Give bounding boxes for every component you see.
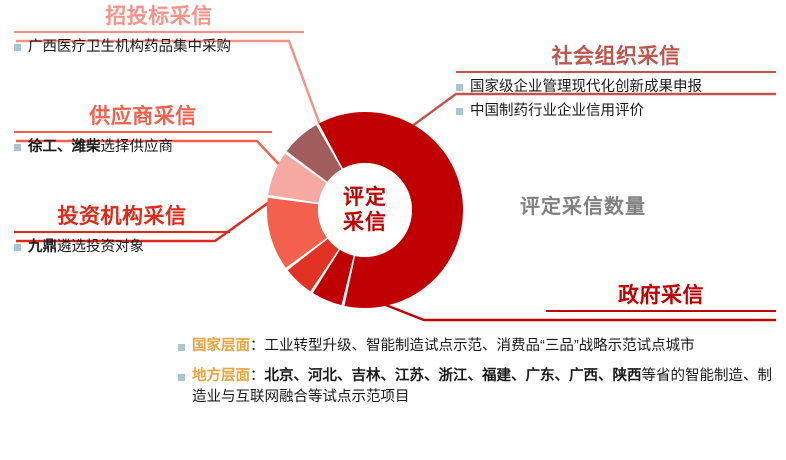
list-item-row: 徐工、潍柴选择供应商 [28,137,173,158]
callout-social: 社会组织采信 国家级企业管理现代化创新成果申报 中国制药行业企业信用评价 [456,44,776,125]
bullet-square-icon [456,108,463,115]
list-item: 徐工、潍柴选择供应商 [14,137,272,158]
note-local-tag: 地方层面 [192,368,250,384]
callout-bidding-rule [14,31,304,33]
list-item-label: 国家级企业管理现代化创新成果申报 [470,77,702,98]
callout-investor: 投资机构采信 九鼎遴选投资对象 [14,204,230,261]
callout-investor-list: 九鼎遴选投资对象 [14,237,230,258]
note-national-sep: ： [250,338,265,354]
list-item-label: 选择供应商 [101,139,174,155]
list-item: 中国制药行业企业信用评价 [456,101,776,122]
callout-social-title: 社会组织采信 [456,44,776,70]
bullet-square-icon [178,344,185,351]
note-national-text: 国家层面：工业转型升级、智能制造试点示范、消费品“三品”战略示范试点城市 [192,336,695,357]
note-local-provinces: 北京、河北、吉林、江苏、浙江、福建、广东、广西、陕西 [265,368,642,384]
list-item-label: 中国制药行业企业信用评价 [470,101,644,122]
note-national-tag: 国家层面 [192,338,250,354]
bullet-square-icon [14,44,21,51]
callout-supplier-list: 徐工、潍柴选择供应商 [14,137,272,158]
callout-social-list: 国家级企业管理现代化创新成果申报 中国制药行业企业信用评价 [456,77,776,122]
list-item: 广西医疗卫生机构药品集中采购 [14,37,304,58]
callout-investor-rule [14,231,230,233]
note-national: 国家层面：工业转型升级、智能制造试点示范、消费品“三品”战略示范试点城市 [178,336,778,357]
callout-supplier-rule [14,131,272,133]
donut-chart: 评定 采信 [258,103,472,317]
callout-social-rule [456,71,776,73]
callout-bidding: 招投标采信 广西医疗卫生机构药品集中采购 [14,4,304,61]
list-item: 九鼎遴选投资对象 [14,237,230,258]
note-national-body: 工业转型升级、智能制造试点示范、消费品“三品”战略示范试点城市 [265,338,695,354]
note-local-text: 地方层面：北京、河北、吉林、江苏、浙江、福建、广东、广西、陕西等省的智能制造、制… [192,366,778,408]
callout-government-title: 政府采信 [546,283,776,309]
list-item-row: 九鼎遴选投资对象 [28,237,144,258]
donut-hole [318,163,412,257]
chart-amount-label: 评定采信数量 [520,190,646,219]
callout-supplier-title: 供应商采信 [14,104,272,130]
callout-bidding-list: 广西医疗卫生机构药品集中采购 [14,37,304,58]
callout-government-rule [546,310,776,312]
note-local-sep: ： [250,368,265,384]
list-item-strong: 九鼎 [28,239,57,255]
donut-chart-svg [258,103,472,317]
list-item: 国家级企业管理现代化创新成果申报 [456,77,776,98]
bullet-square-icon [14,144,21,151]
slide-canvas: 评定 采信 评定采信数量 招投标采信 广西医疗卫生机构药品集中采购 供应商采信 … [0,0,786,460]
government-notes: 国家层面：工业转型升级、智能制造试点示范、消费品“三品”战略示范试点城市 地方层… [178,336,778,417]
list-item-strong: 徐工、潍柴 [28,139,101,155]
callout-government: 政府采信 [546,283,776,312]
callout-bidding-title: 招投标采信 [14,4,304,30]
bullet-square-icon [14,244,21,251]
bullet-square-icon [456,84,463,91]
bullet-square-icon [178,374,185,381]
list-item-label: 广西医疗卫生机构药品集中采购 [28,37,231,58]
note-local: 地方层面：北京、河北、吉林、江苏、浙江、福建、广东、广西、陕西等省的智能制造、制… [178,366,778,408]
callout-supplier: 供应商采信 徐工、潍柴选择供应商 [14,104,272,161]
list-item-label: 遴选投资对象 [57,239,144,255]
callout-investor-title: 投资机构采信 [14,204,230,230]
